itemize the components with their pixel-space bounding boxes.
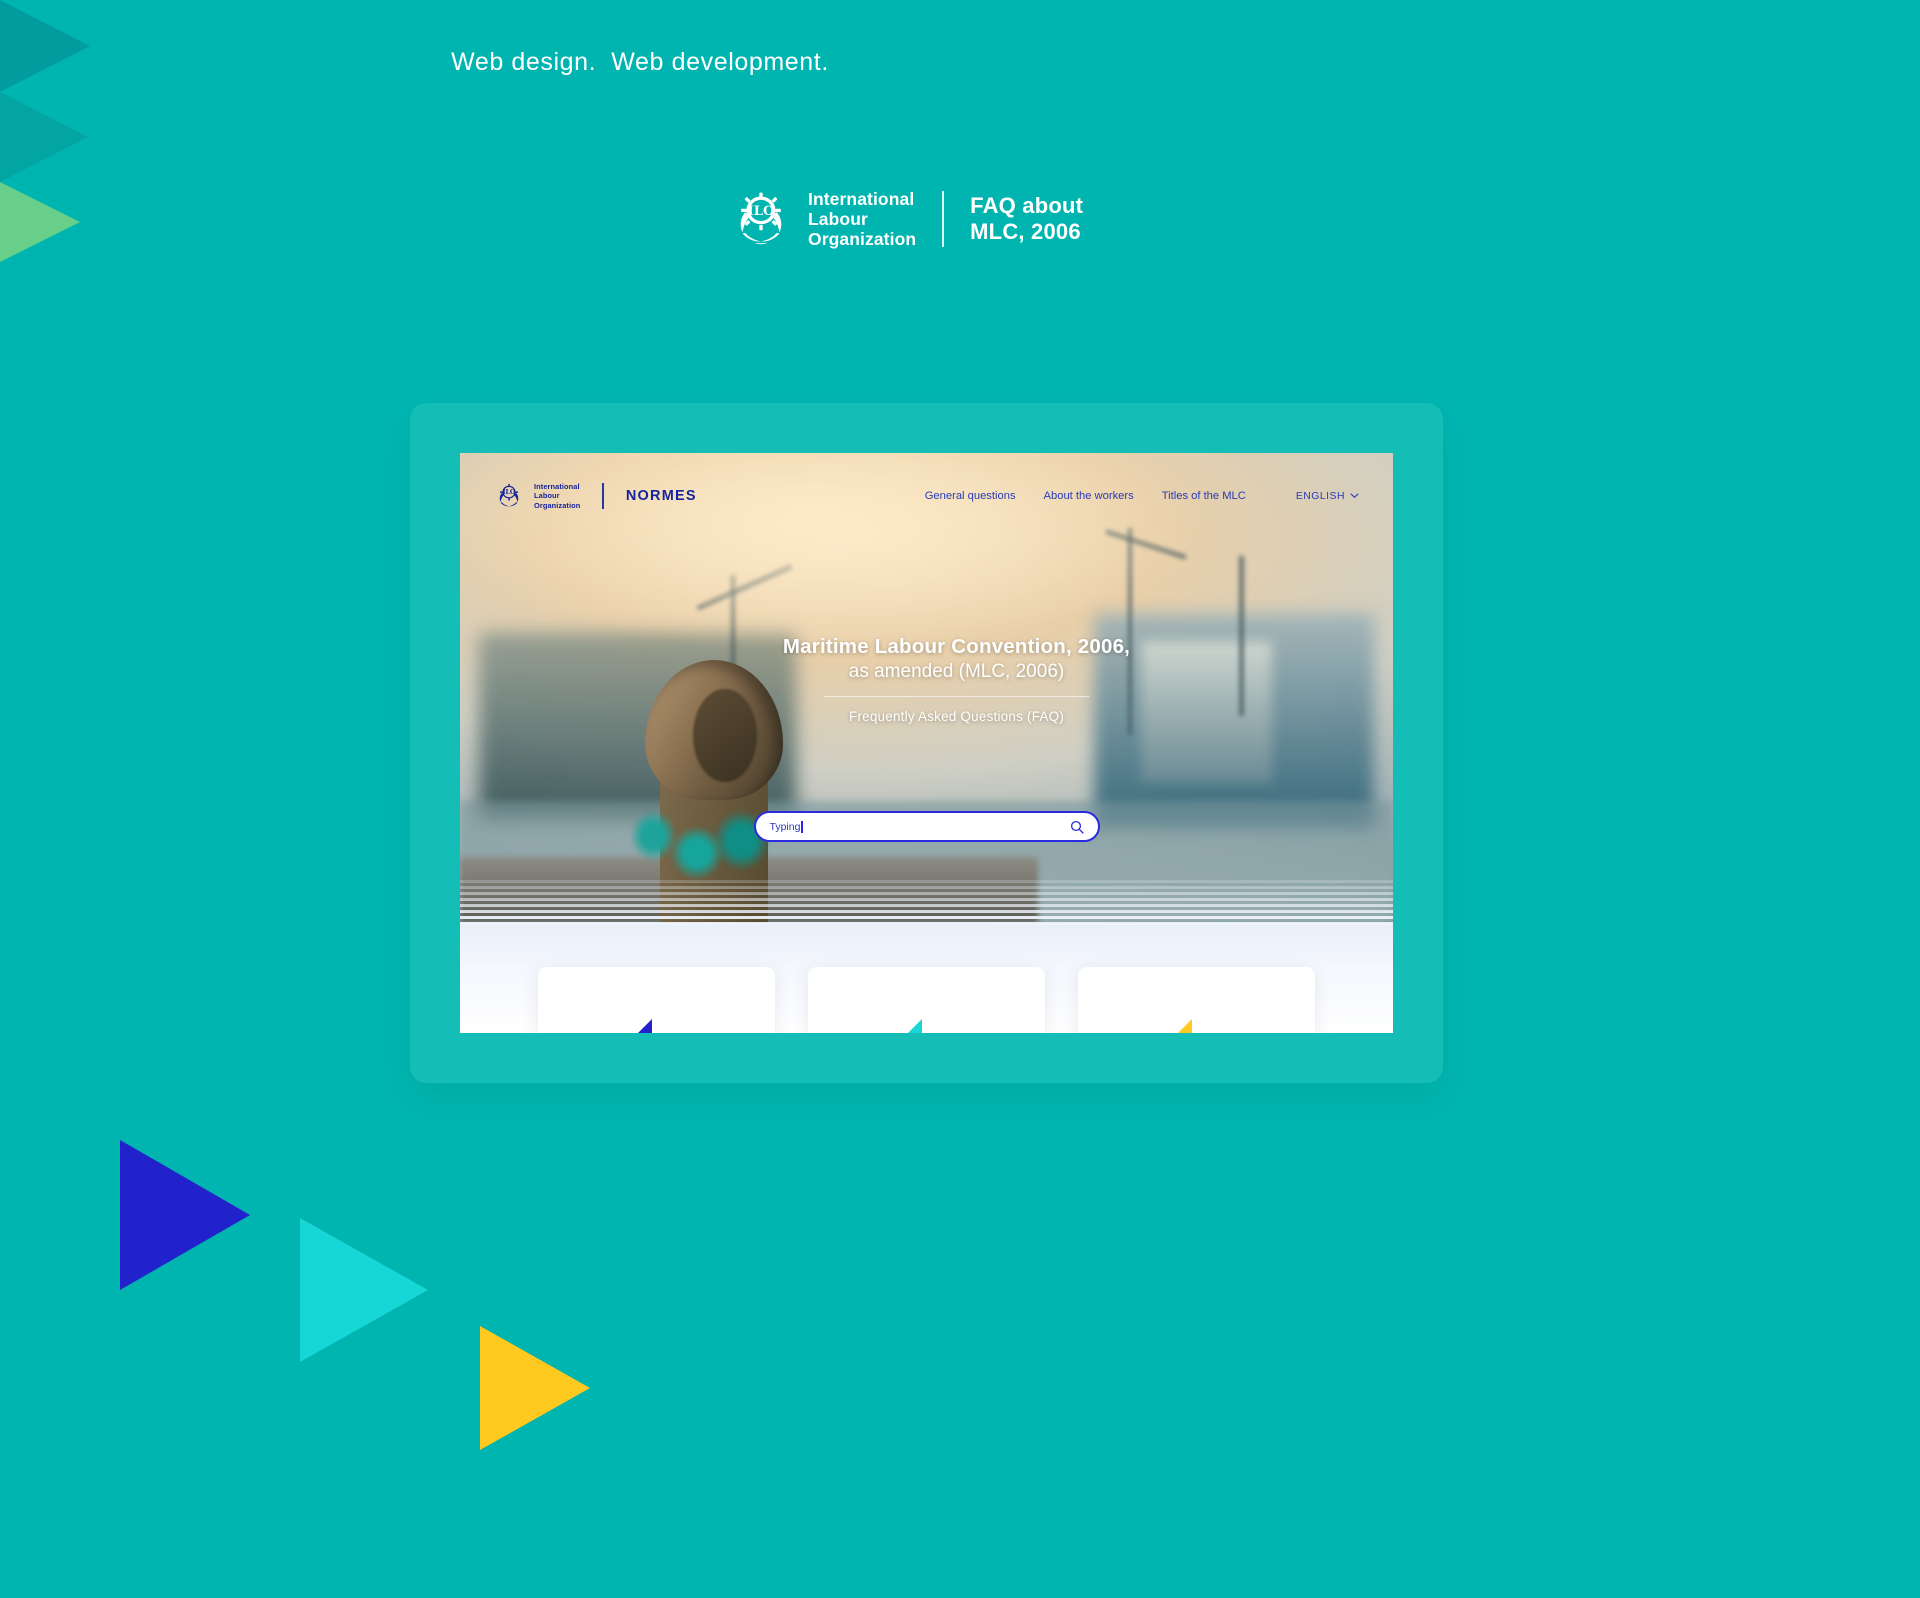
decor-triangle-cyan-main (300, 1218, 428, 1362)
site-brand-divider (602, 483, 604, 509)
card-accent-triangle (614, 1019, 652, 1033)
site-brand[interactable]: ILO International Labour Organization NO… (494, 481, 697, 511)
language-selector[interactable]: ENGLISH (1296, 491, 1359, 502)
content-card[interactable] (538, 967, 775, 1033)
hero-copy: Maritime Labour Convention, 2006, as ame… (460, 635, 1393, 724)
hero-stripe-transition (460, 877, 1393, 929)
hero-subtitle: as amended (MLC, 2006) (520, 661, 1393, 683)
site-brand-unit: NORMES (626, 488, 697, 504)
ilo-seal-icon: ILO (494, 481, 524, 511)
page-tagline: Web design. Web development. (0, 48, 1280, 77)
nav-link-titles-of-the-mlc[interactable]: Titles of the MLC (1162, 490, 1246, 502)
content-card[interactable] (1078, 967, 1315, 1033)
ilo-seal-icon: ILO (728, 186, 794, 252)
card-accent-triangle (884, 1019, 922, 1033)
svg-text:ILO: ILO (748, 204, 775, 219)
lockup-organization: International Labour Organization (808, 189, 916, 250)
browser-screen: ILO International Labour Organization NO… (460, 453, 1393, 1033)
monitor-frame: ILO International Labour Organization NO… (410, 403, 1443, 1083)
hero-caption: Frequently Asked Questions (FAQ) (520, 709, 1393, 724)
lockup-divider (942, 191, 944, 247)
card-accent-triangle (1154, 1019, 1192, 1033)
chevron-down-icon (1350, 493, 1359, 499)
svg-text:ILO: ILO (503, 489, 516, 496)
card-grid (460, 967, 1393, 1033)
search-icon[interactable] (1070, 820, 1084, 834)
site-brand-organization: International Labour Organization (534, 482, 580, 510)
search-input[interactable]: Typing (770, 821, 801, 833)
hero-crane-1 (697, 564, 793, 610)
hero-divider (824, 696, 1089, 697)
content-section (460, 923, 1393, 1033)
vertical-title-block: Maritime Labour Convention, 2006 Frequen… (1620, 0, 1920, 1598)
decor-triangle-yellow-main (480, 1326, 590, 1450)
content-card[interactable] (808, 967, 1045, 1033)
decor-triangle-blue-shadow (0, 0, 90, 92)
nav-link-general-questions[interactable]: General questions (925, 490, 1016, 502)
ilo-lockup: ILO International Labour Organization FA… (728, 186, 1083, 252)
lockup-project-title: FAQ about MLC, 2006 (970, 193, 1083, 246)
site-navbar: ILO International Labour Organization NO… (460, 453, 1393, 539)
decor-triangle-yellow-shadow (0, 182, 80, 262)
language-label: ENGLISH (1296, 491, 1345, 502)
decor-triangle-blue-main (120, 1140, 250, 1290)
search-bar[interactable]: Typing (754, 811, 1100, 842)
site-nav-links: General questions About the workers Titl… (925, 490, 1359, 502)
nav-link-about-the-workers[interactable]: About the workers (1044, 490, 1134, 502)
text-caret (801, 821, 803, 833)
decor-triangle-cyan-shadow (0, 92, 88, 182)
hero-title: Maritime Labour Convention, 2006, (520, 635, 1393, 659)
